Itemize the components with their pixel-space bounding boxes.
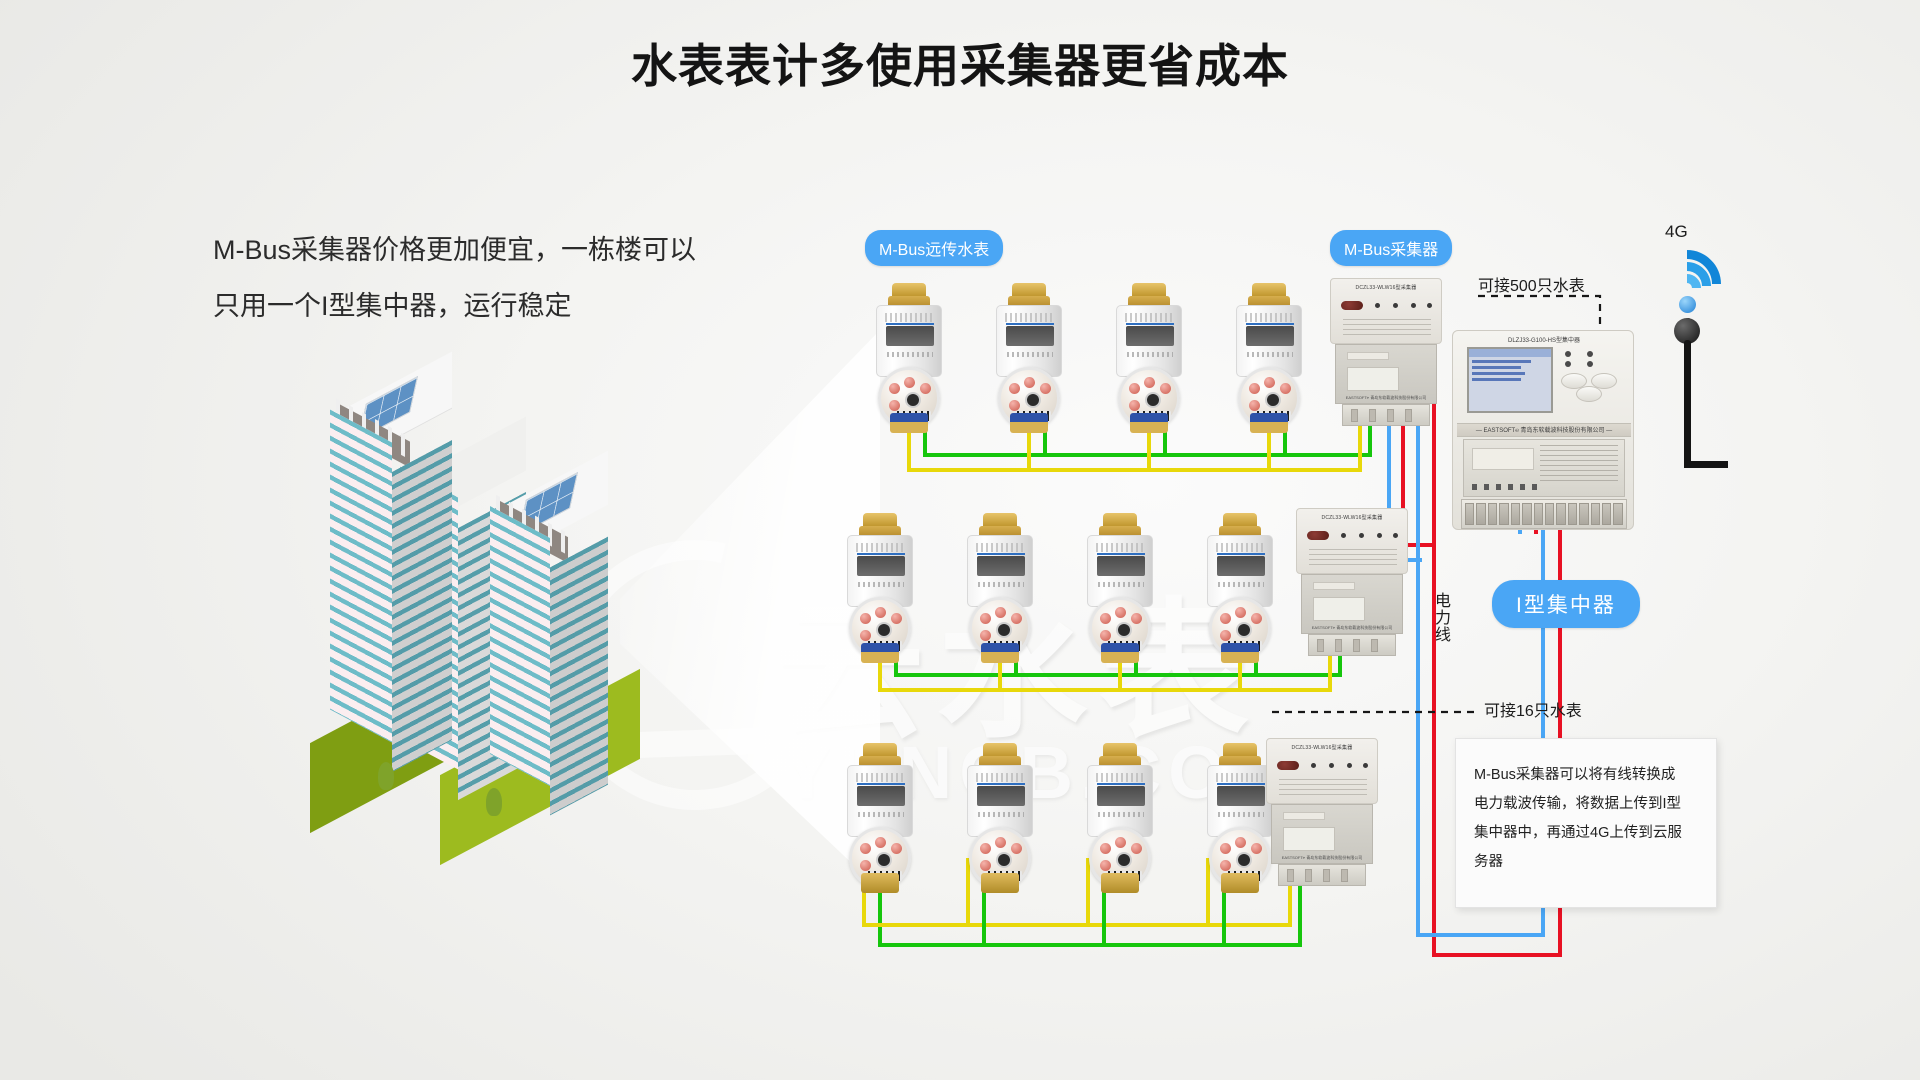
antenna-icon [1660,318,1730,468]
water-meter[interactable] [1110,283,1188,433]
water-meter[interactable] [961,743,1039,893]
concentrator-display [1467,347,1553,413]
type-i-concentrator[interactable]: DLZJ33-G100-HS型集中器 — EASTSOFT℮ 青岛东软载波科技股… [1452,330,1634,530]
water-meter[interactable] [841,743,919,893]
collector-brand-label: EASTSOFT℮ 青岛东软载波科技股份有限公司 [1272,855,1372,861]
badge-mbus-meter[interactable]: M-Bus远传水表 [865,230,1003,266]
badge-type-i-concentrator[interactable]: I型集中器 [1492,580,1640,628]
label-4g: 4G [1665,222,1688,242]
mbus-collector[interactable]: DCZL33-WLW16型采集器 EASTSOFT℮ 青岛东软载波科技股份有限公… [1296,508,1408,658]
water-meter[interactable] [1081,743,1159,893]
water-meter[interactable] [870,283,948,433]
poster-canvas: 水表表计多使用采集器更省成本 M-Bus采集器价格更加便宜，一栋楼可以 只用一个… [0,0,1920,1080]
info-line-2: 电力载波传输，将数据上传到I型 [1474,790,1698,819]
wiring-overlay [0,0,1920,1080]
label-power-line: 电力线 [1428,592,1452,643]
concentrator-model-label: DLZJ33-G100-HS型集中器 [1459,335,1629,345]
collector-model-label: DCZL33-WLW16型采集器 [1267,744,1377,751]
mbus-collector[interactable]: DCZL33-WLW16型采集器 EASTSOFT℮ 青岛东软载波科技股份有限公… [1330,278,1442,428]
water-meter[interactable] [1201,513,1279,663]
water-meter[interactable] [990,283,1068,433]
collector-model-label: DCZL33-WLW16型采集器 [1331,284,1441,291]
info-line-4: 务器 [1474,848,1698,877]
water-meter[interactable] [961,513,1039,663]
concentrator-status-leds [1563,351,1621,367]
collector-brand-label: EASTSOFT℮ 青岛东软载波科技股份有限公司 [1302,625,1402,631]
info-callout-box: M-Bus采集器可以将有线转换成 电力载波传输，将数据上传到I型 集中器中，再通… [1455,738,1717,908]
info-line-3: 集中器中，再通过4G上传到云服 [1474,819,1698,848]
concentrator-terminal-block [1461,499,1627,529]
water-meter[interactable] [841,513,919,663]
label-capacity-16: 可接16只水表 [1484,697,1582,721]
badge-mbus-collector[interactable]: M-Bus采集器 [1330,230,1452,266]
collector-brand-label: EASTSOFT℮ 青岛东软载波科技股份有限公司 [1336,395,1436,401]
mbus-collector[interactable]: DCZL33-WLW16型采集器 EASTSOFT℮ 青岛东软载波科技股份有限公… [1266,738,1378,888]
info-line-1: M-Bus采集器可以将有线转换成 [1474,761,1698,790]
water-meter[interactable] [1230,283,1308,433]
concentrator-keypad[interactable] [1561,373,1621,403]
collector-model-label: DCZL33-WLW16型采集器 [1297,514,1407,521]
wifi-4g-icon [1651,250,1723,312]
label-capacity-500: 可接500只水表 [1478,272,1585,296]
water-meter[interactable] [1081,513,1159,663]
concentrator-brand-label: — EASTSOFT℮ 青岛东软载波科技股份有限公司 — [1457,423,1631,437]
